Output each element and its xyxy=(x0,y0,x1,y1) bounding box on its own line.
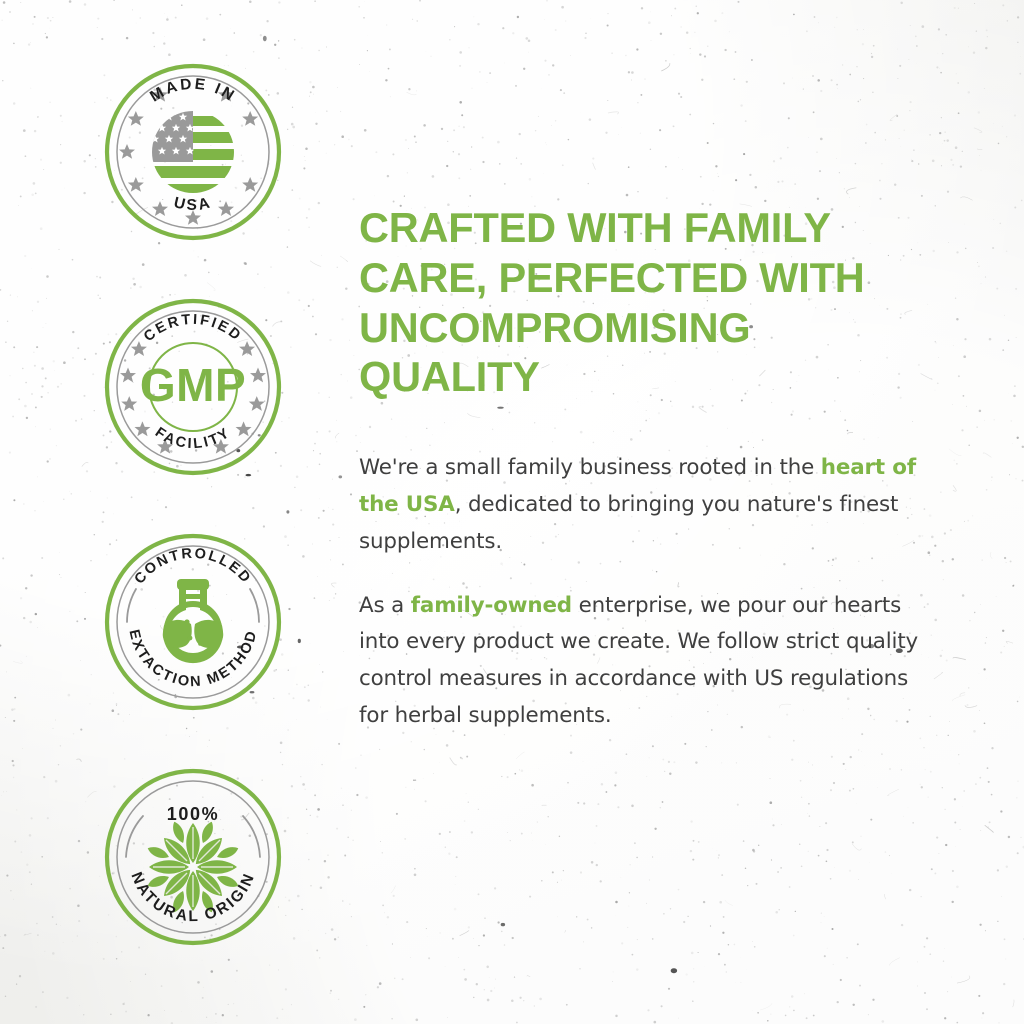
flask-leaf-icon xyxy=(163,579,223,663)
gmp-text-icon: GMP xyxy=(140,359,246,411)
badge-gmp-certified-facility: GMP CERTIFIED FACILITY xyxy=(103,297,283,477)
badge-top-label: MADE IN xyxy=(147,76,239,106)
page-title: CRAFTED WITH FAMILY CARE, PERFECTED WITH… xyxy=(359,203,919,402)
trust-badge-list: MADE IN USA xyxy=(103,62,283,1002)
badge-top-label: CERTIFIED xyxy=(141,312,245,345)
badge-natural-origin: 100% xyxy=(103,767,283,947)
paragraph-2-highlight: family-owned xyxy=(411,593,572,618)
badge-controlled-extraction-method: CONTROLLED EXTACTION METHOD xyxy=(103,532,283,712)
promo-panel: MADE IN USA xyxy=(0,0,1024,1024)
copy-column: CRAFTED WITH FAMILY CARE, PERFECTED WITH… xyxy=(359,203,919,735)
quality-paragraph: As a family-owned enterprise, we pour ou… xyxy=(359,588,919,735)
paragraph-1-part-1: We're a small family business rooted in … xyxy=(359,455,821,480)
badge-bottom-label: USA xyxy=(172,194,214,214)
badge-top-label: 100% xyxy=(167,804,219,824)
us-flag-circle-icon xyxy=(133,106,253,195)
paragraph-2-part-1: As a xyxy=(359,593,411,618)
intro-paragraph: We're a small family business rooted in … xyxy=(359,450,919,560)
badge-made-in-usa: MADE IN USA xyxy=(103,62,283,242)
